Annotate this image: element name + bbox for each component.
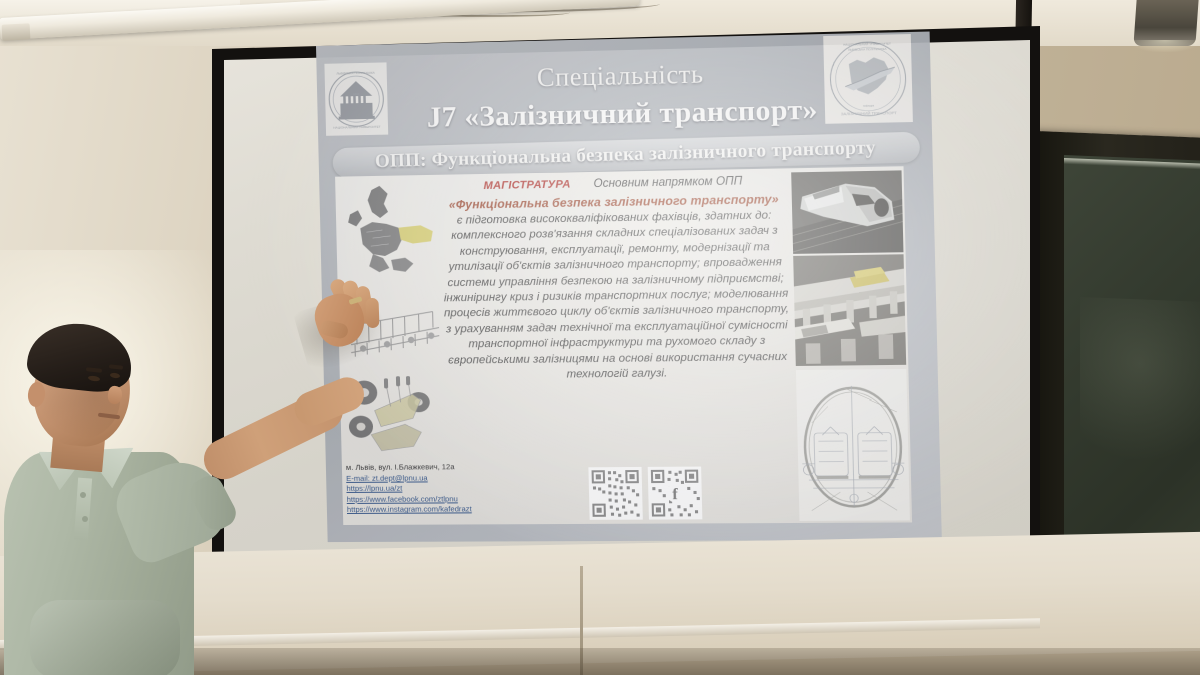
ceiling-lamp-glow xyxy=(1130,40,1200,52)
presenter-shirt-button-top xyxy=(80,492,86,498)
lecture-room-scene: ЛЬВІВСЬКА ПОЛІТЕХНІКА НАЦІОНАЛЬНИЙ УНІВЕ… xyxy=(0,0,1200,675)
presenter-shirt-button-bottom xyxy=(82,516,88,522)
chalkboard-dust xyxy=(1080,297,1200,463)
presenter-shirt-fold xyxy=(30,600,180,675)
presenter-hand xyxy=(316,278,378,348)
presenter xyxy=(0,300,330,675)
presenter-finger-little xyxy=(365,298,379,328)
screen-roller-cap xyxy=(2,23,31,40)
